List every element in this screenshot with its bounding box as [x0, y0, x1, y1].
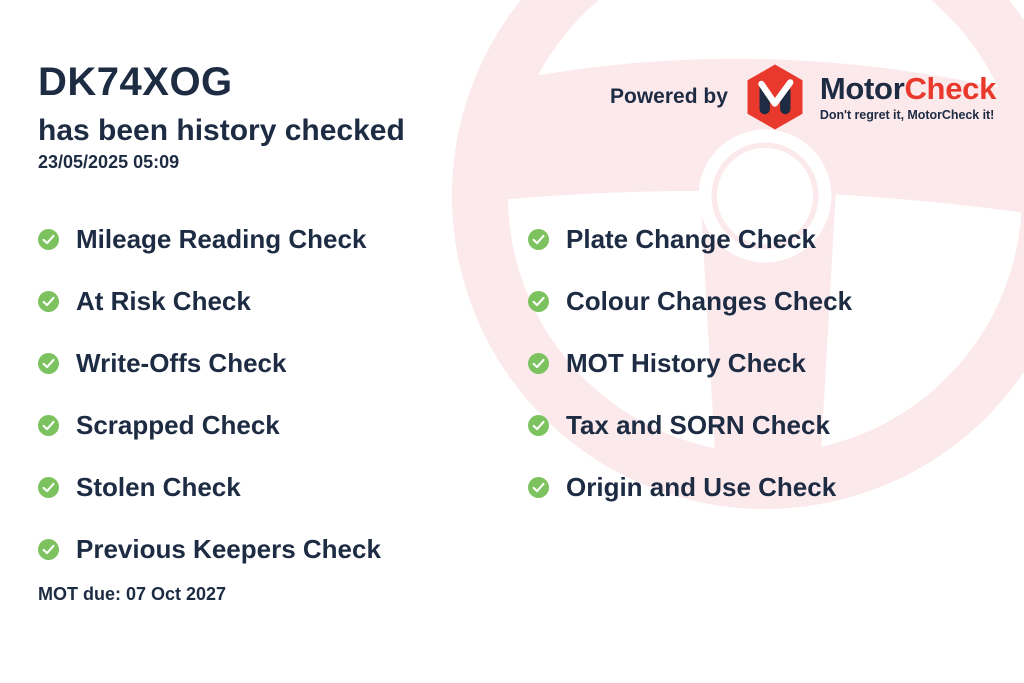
- check-item-previous-keepers: Previous Keepers Check: [38, 518, 381, 580]
- check-item-label: At Risk Check: [76, 288, 251, 314]
- page-title-registration: DK74XOG: [38, 62, 233, 102]
- motorcheck-hexagon-icon: [744, 63, 806, 131]
- check-item-label: Mileage Reading Check: [76, 226, 366, 252]
- mot-due-date: MOT due: 07 Oct 2027: [38, 584, 226, 605]
- check-item-tax-and-sorn: Tax and SORN Check: [528, 394, 852, 456]
- check-item-at-risk: At Risk Check: [38, 270, 381, 332]
- green-check-circle-icon: [38, 539, 59, 560]
- check-item-mot-history: MOT History Check: [528, 332, 852, 394]
- check-item-scrapped: Scrapped Check: [38, 394, 381, 456]
- green-check-circle-icon: [528, 291, 549, 312]
- check-item-write-offs: Write-Offs Check: [38, 332, 381, 394]
- check-item-label: Stolen Check: [76, 474, 241, 500]
- powered-by-block: Powered by MotorCheck Don't regret it, M…: [610, 62, 996, 132]
- checks-right-column: Plate Change Check Colour Changes Check …: [528, 208, 852, 518]
- green-check-circle-icon: [38, 415, 59, 436]
- check-item-colour-changes: Colour Changes Check: [528, 270, 852, 332]
- checks-left-column: Mileage Reading Check At Risk Check Writ…: [38, 208, 381, 580]
- green-check-circle-icon: [528, 229, 549, 250]
- green-check-circle-icon: [528, 415, 549, 436]
- green-check-circle-icon: [38, 353, 59, 374]
- wordmark-check: Check: [904, 71, 996, 106]
- history-check-banner: DK74XOG has been history checked 23/05/2…: [0, 0, 1024, 683]
- powered-by-label: Powered by: [610, 85, 728, 109]
- motorcheck-tagline: Don't regret it, MotorCheck it!: [820, 108, 996, 122]
- check-item-origin-and-use: Origin and Use Check: [528, 456, 852, 518]
- green-check-circle-icon: [38, 477, 59, 498]
- green-check-circle-icon: [38, 229, 59, 250]
- check-item-label: Colour Changes Check: [566, 288, 852, 314]
- page-subtitle: has been history checked: [38, 114, 405, 147]
- check-item-mileage-reading: Mileage Reading Check: [38, 208, 381, 270]
- green-check-circle-icon: [528, 353, 549, 374]
- check-item-stolen: Stolen Check: [38, 456, 381, 518]
- green-check-circle-icon: [528, 477, 549, 498]
- check-item-label: Write-Offs Check: [76, 350, 286, 376]
- check-item-label: Origin and Use Check: [566, 474, 836, 500]
- wordmark-motor: Motor: [820, 71, 905, 106]
- check-item-label: Tax and SORN Check: [566, 412, 830, 438]
- check-item-plate-change: Plate Change Check: [528, 208, 852, 270]
- check-timestamp: 23/05/2025 05:09: [38, 153, 179, 171]
- check-item-label: Plate Change Check: [566, 226, 816, 252]
- motorcheck-wordmark: MotorCheck Don't regret it, MotorCheck i…: [820, 73, 996, 122]
- check-item-label: MOT History Check: [566, 350, 806, 376]
- green-check-circle-icon: [38, 291, 59, 312]
- check-item-label: Previous Keepers Check: [76, 536, 381, 562]
- check-item-label: Scrapped Check: [76, 412, 280, 438]
